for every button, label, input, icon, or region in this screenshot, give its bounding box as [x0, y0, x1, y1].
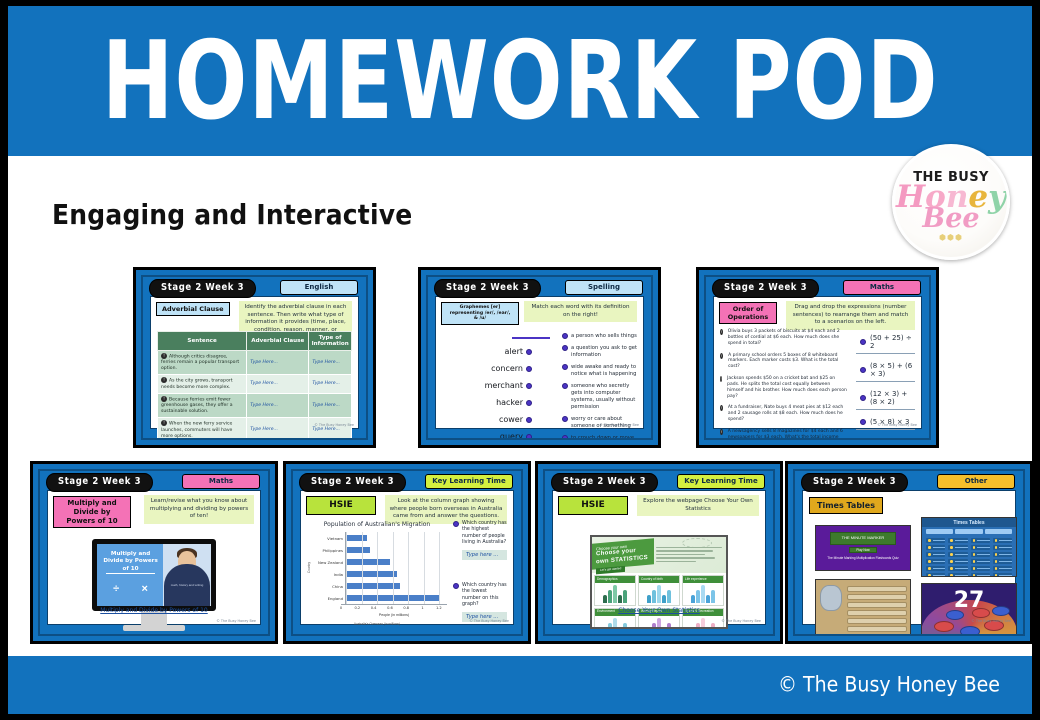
chart-category-label: New Zealand: [311, 556, 345, 568]
topic-tag: Graphemes [er] representing /er/, /ear/,…: [441, 302, 519, 325]
scenario-item: !A primary school orders 5 boxes of 8 wh…: [720, 353, 848, 371]
slide-body: Multiply and Divide by Powers of 10 Lear…: [47, 490, 261, 625]
chart-gridline: [439, 532, 440, 604]
card-hsie-column-graph[interactable]: Stage 2 Week 3 Key Learning Time HSIE Lo…: [283, 461, 531, 644]
chart-category-labels: VietnamPhilippinesNew ZealandIndiaChinaE…: [311, 532, 345, 604]
video-link[interactable]: Multiply and Divide by Powers of 10: [48, 607, 260, 614]
scenario-item: !Olivia buys 3 packets of biscuits at $4…: [720, 329, 848, 347]
web-tile-label: Demographics: [595, 576, 635, 583]
word-label: query: [500, 432, 523, 440]
connector-dot-icon[interactable]: [526, 417, 532, 423]
question-1: Which country has the highest number of …: [453, 521, 507, 560]
col-sentence: Sentence: [158, 332, 247, 351]
table-row: !Although critics disagree, ferries rema…: [158, 351, 352, 375]
subject-badge-other: Other: [937, 474, 1015, 489]
web-tile-figure-icon: [595, 583, 635, 605]
connector-dot-icon[interactable]: [562, 345, 568, 351]
cell-sentence: !Because ferries emit fewer greenhouse g…: [158, 393, 247, 417]
card-maths-order-of-operations[interactable]: Stage 2 Week 3 Maths Order of Operations…: [696, 267, 939, 448]
honeycomb-icon: ⬢⬢⬢: [939, 233, 963, 242]
word-column[interactable]: alertconcernmerchanthackercowerquery: [446, 343, 532, 440]
header-banner: HOMEWORK POD: [8, 6, 1032, 156]
cell-type-input[interactable]: Type Here...: [309, 351, 352, 375]
word-label: alert: [505, 347, 523, 356]
word-item[interactable]: cower: [446, 411, 532, 428]
video-title: Multiply and Divide by Powers of 10: [102, 551, 159, 573]
operator-icons: ÷ ×: [102, 583, 159, 595]
bullet-icon: !: [720, 376, 722, 382]
expression-text: (8 × 5) + (6 × 3): [870, 362, 913, 378]
divide-icon: ÷: [113, 583, 119, 595]
instruction-text: Explore the webpage Choose Your Own Stat…: [637, 495, 759, 516]
card-spelling[interactable]: Stage 2 Week 3 Spelling Graphemes [er] r…: [418, 267, 661, 448]
subject-badge-spelling: Spelling: [565, 280, 643, 295]
video-screen[interactable]: Multiply and Divide by Powers of 10 ÷ × …: [92, 539, 216, 611]
stone-icon: [820, 585, 842, 611]
hero-title: Choose your own STATISTICS: [596, 547, 650, 567]
game-thumb-quiz[interactable]: [815, 579, 911, 635]
credit-text: © The Busy Honey Bee: [971, 619, 1011, 623]
web-tile-label: Life experience: [683, 576, 723, 583]
web-tile-figure-icon: [683, 616, 723, 629]
chart-title: Population of Australian's Migration: [307, 521, 447, 528]
chart-tick-label: 1.2: [436, 606, 442, 610]
connector-dot-icon[interactable]: [562, 364, 568, 370]
cell-sentence: !When the new ferry service launches, co…: [158, 418, 247, 440]
slide-body: Graphemes [er] representing /er/, /ear/,…: [435, 296, 644, 429]
chart-gridline: [424, 532, 425, 604]
bullet-icon: !: [161, 377, 167, 383]
chart-gridline: [408, 532, 409, 604]
topic-tag: HSIE: [306, 496, 376, 515]
expression-item[interactable]: (50 + 25) ÷ 2: [856, 331, 915, 354]
divider: [106, 573, 155, 575]
expression-item[interactable]: (8 × 5) + (6 × 3): [856, 359, 915, 382]
bullet-icon: !: [161, 420, 167, 426]
subject-badge-maths: Maths: [843, 280, 921, 295]
definition-text: to crouch down or move back because you …: [571, 435, 637, 440]
scenario-text: Jackson spends $50 on a cricket bat and …: [727, 376, 848, 399]
slide-body: Times Tables THE MINUTE MARKER Play Now …: [802, 490, 1016, 625]
cell-clause-input[interactable]: Type Here...: [247, 351, 309, 375]
table-row: !Because ferries emit fewer greenhouse g…: [158, 393, 352, 417]
connector-dot-icon[interactable]: [562, 416, 568, 422]
connector-dot-icon[interactable]: [526, 366, 532, 372]
web-tile-figure-icon: [639, 616, 679, 629]
card-english[interactable]: Stage 2 Week 3 English Adverbial Clause …: [133, 267, 376, 448]
credit-text: © The Busy Honey Bee: [469, 619, 509, 623]
chart-tick-label: 1: [421, 606, 423, 610]
topic-tag: HSIE: [558, 496, 628, 515]
credit-text: © The Busy Honey Bee: [721, 619, 761, 623]
stage-label: Stage 2 Week 3: [712, 279, 819, 298]
webpage-link[interactable]: Choose Your Own Statistics: [553, 607, 765, 614]
chart-bar: [346, 547, 370, 553]
chart-tick-label: 0.4: [371, 606, 377, 610]
table-row: !As the city grows, transport needs beco…: [158, 375, 352, 393]
chart-gridline: [346, 532, 347, 604]
expression-item[interactable]: (12 × 3) + (8 × 2): [856, 387, 915, 410]
web-tile-figure-icon: [595, 616, 635, 629]
credit-text: © The Busy Honey Bee: [314, 423, 354, 427]
subject-badge-klt: Key Learning Time: [677, 474, 765, 489]
multiply-icon: ×: [142, 583, 148, 595]
game-thumb-times-tables[interactable]: Times Tables: [921, 517, 1017, 577]
slide-body: Order of Operations Drag and drop the ex…: [713, 296, 922, 429]
expression-text: (50 + 25) ÷ 2: [870, 334, 913, 350]
cell-clause-input[interactable]: Type Here...: [247, 393, 309, 417]
chart-gridline: [377, 532, 378, 604]
definition-item[interactable]: someone who secretly gets into computer …: [562, 383, 637, 411]
card-hsie-statistics-webpage[interactable]: Stage 2 Week 3 Key Learning Time HSIE Ex…: [535, 461, 783, 644]
topic-tag: Order of Operations: [719, 302, 777, 324]
chart-category-label: England: [311, 592, 345, 604]
connector-dot-icon[interactable]: [526, 400, 532, 406]
cell-clause-input[interactable]: Type Here...: [247, 375, 309, 393]
chart-gridline: [393, 532, 394, 604]
hero-banner: Choose your ownChoose your own STATISTIC…: [592, 538, 654, 569]
word-item[interactable]: query: [446, 428, 532, 440]
scenario-item: !At a fundraiser, Nate buys 4 meat pies …: [720, 405, 848, 423]
answer-input-1[interactable]: Type here ...: [462, 550, 507, 560]
logo-bee-text: Bee: [922, 207, 979, 231]
chart-tick-label: 0.2: [354, 606, 360, 610]
chart-plot-area: [345, 532, 447, 604]
presenter-image: math, history and writing: [163, 544, 211, 606]
col-type: Type of Information: [309, 332, 352, 351]
slide-body: HSIE Look at the column graph showing wh…: [300, 490, 514, 625]
definition-item[interactable]: a person who sells things: [562, 333, 637, 340]
cell-type-input[interactable]: Type Here...: [309, 375, 352, 393]
migration-bar-chart: Population of Australian's Migration Cou…: [307, 521, 447, 616]
chart-category-label: China: [311, 580, 345, 592]
web-tile-label: Country of birth: [639, 576, 679, 583]
stage-label: Stage 2 Week 3: [149, 279, 256, 298]
credit-text: © The Busy Honey Bee: [877, 423, 917, 427]
drag-handle-icon[interactable]: [860, 339, 866, 345]
brand-logo: THE BUSY Honey Bee ⬢⬢⬢: [892, 144, 1010, 260]
credit-text: © The Busy Honey Bee: [216, 619, 256, 623]
scenario-list: !Olivia buys 3 packets of biscuits at $4…: [720, 329, 848, 440]
subtitle: Engaging and Interactive: [52, 198, 412, 230]
chart-xlabel: People (in millions): [341, 613, 447, 617]
bullet-icon: [453, 521, 459, 527]
webpage-thumbnail[interactable]: Choose your ownChoose your own STATISTIC…: [590, 535, 728, 629]
scenario-text: A newsagency sells 8 magazines for $4 ea…: [728, 429, 848, 440]
bullet-icon: !: [720, 429, 723, 435]
slide-body: HSIE Explore the webpage Choose Your Own…: [552, 490, 766, 625]
cell-sentence: !Although critics disagree, ferries rema…: [158, 351, 247, 375]
subject-badge-maths: Maths: [182, 474, 260, 489]
bullet-icon: !: [161, 353, 167, 359]
instruction-text: Match each word with its definition on t…: [524, 301, 637, 322]
web-tile-figure-icon: [683, 583, 723, 605]
bullet-icon: [453, 583, 459, 589]
game-thumb-minute-marker[interactable]: THE MINUTE MARKER Play Now The Minute Ma…: [815, 525, 911, 571]
subject-badge-klt: Key Learning Time: [425, 474, 513, 489]
instruction-text: Look at the column graph showing where p…: [385, 495, 507, 524]
game-thumb-number-game[interactable]: 27: [921, 583, 1017, 636]
connector-dot-icon[interactable]: [526, 349, 532, 355]
chart-category-label: Philippines: [311, 544, 345, 556]
connector-dot-icon[interactable]: [526, 383, 532, 389]
definition-text: wide awake and ready to notice what is h…: [571, 364, 637, 378]
definition-item[interactable]: to crouch down or move back because you …: [562, 435, 637, 440]
video-monitor[interactable]: Multiply and Divide by Powers of 10 ÷ × …: [92, 539, 216, 631]
table-header-row: Sentence Adverbial Clause Type of Inform…: [158, 332, 352, 351]
chart-gridline: [362, 532, 363, 604]
stage-label: Stage 2 Week 3: [551, 473, 658, 492]
topic-tag: Adverbial Clause: [156, 302, 230, 316]
chart-bar: [346, 559, 390, 565]
word-item[interactable]: merchant: [446, 377, 532, 394]
connector-dot-icon[interactable]: [562, 435, 568, 440]
web-tile[interactable]: Country of birth: [638, 575, 680, 606]
drag-handle-icon[interactable]: [860, 367, 866, 373]
word-label: merchant: [485, 381, 523, 390]
page-title: HOMEWORK POD: [102, 27, 939, 135]
chart-tick-label: 0: [340, 606, 342, 610]
scenario-item: !Jackson spends $50 on a cricket bat and…: [720, 376, 848, 399]
scenario-text: At a fundraiser, Nate buys 4 meat pies a…: [728, 405, 848, 423]
cell-sentence: !As the city grows, transport needs beco…: [158, 375, 247, 393]
cell-type-input[interactable]: Type Here...: [309, 418, 352, 440]
game-title: THE MINUTE MARKER: [830, 532, 896, 545]
slide-body: Adverbial Clause Identify the adverbial …: [150, 296, 359, 429]
web-tile[interactable]: Demographics: [594, 575, 636, 606]
subject-badge-english: English: [280, 280, 358, 295]
question-text: Which country has the lowest number on t…: [462, 583, 507, 609]
expression-item[interactable]: (4 × 3) + (6 × 2): [856, 435, 915, 440]
footer-banner: © The Busy Honey Bee: [8, 656, 1032, 714]
tile-grid[interactable]: DemographicsCountry of birthLife experie…: [592, 573, 726, 629]
bullet-icon: !: [720, 353, 723, 359]
connector-dot-icon[interactable]: [562, 383, 568, 389]
expression-text: (4 × 3) + (6 × 2): [870, 438, 913, 440]
cell-clause-input[interactable]: Type Here...: [247, 418, 309, 440]
col-clause: Adverbial Clause: [247, 332, 309, 351]
card-other-times-tables[interactable]: Stage 2 Week 3 Other Times Tables THE MI…: [785, 461, 1033, 644]
stage-label: Stage 2 Week 3: [801, 473, 908, 492]
chart-bar: [346, 535, 367, 541]
chart-bar: [346, 571, 397, 577]
shirt-text: math, history and writing: [167, 584, 207, 588]
bullet-icon: !: [720, 329, 723, 335]
chart-bar: [346, 583, 400, 589]
word-label: concern: [491, 364, 523, 373]
question-text: Which country has the highest number of …: [462, 521, 507, 547]
monitor-base: [123, 625, 185, 631]
word-item[interactable]: hacker: [446, 394, 532, 411]
chart-x-axis: 00.20.40.60.811.2: [341, 604, 447, 613]
word-item[interactable]: alert: [446, 343, 532, 360]
credit-text: © The Busy Honey Bee: [599, 423, 639, 427]
expression-text: (12 × 3) + (8 × 2): [870, 390, 913, 406]
chart-ylabel: Country: [307, 562, 311, 573]
cell-type-input[interactable]: Type Here...: [309, 393, 352, 417]
chart-category-label: India: [311, 568, 345, 580]
connector-dot-icon[interactable]: [562, 333, 568, 339]
poster-page: HOMEWORK POD THE BUSY Honey Bee ⬢⬢⬢ Enga…: [0, 0, 1040, 720]
chart-category-label: Vietnam: [311, 532, 345, 544]
word-item[interactable]: concern: [446, 360, 532, 377]
hero-text-lines: [656, 547, 722, 564]
game-title: Times Tables: [953, 520, 984, 526]
web-tile-figure-icon: [639, 583, 679, 605]
definition-item[interactable]: a question you ask to get information: [562, 345, 637, 359]
scenario-text: A primary school orders 5 boxes of 8 whi…: [728, 353, 848, 371]
scenario-text: Olivia buys 3 packets of biscuits at $4 …: [728, 329, 848, 347]
hero-button[interactable]: Let's get started: [596, 566, 625, 574]
game-caption: The Minute Marking Multiplication Flashc…: [816, 556, 910, 560]
instruction-text: Learn/revise what you know about multipl…: [144, 495, 254, 524]
chart-tick-label: 0.6: [387, 606, 393, 610]
definition-item[interactable]: wide awake and ready to notice what is h…: [562, 364, 637, 378]
stage-label: Stage 2 Week 3: [299, 473, 406, 492]
word-label: hacker: [496, 398, 523, 407]
bullet-icon: !: [161, 396, 167, 402]
play-button[interactable]: Play Now: [849, 547, 877, 553]
chart-source: Australia's Overseas (in millions): [307, 622, 447, 626]
scenario-item: !A newsagency sells 8 magazines for $4 e…: [720, 429, 848, 440]
question-2: Which country has the lowest number on t…: [453, 583, 507, 622]
match-connector-line: [512, 337, 550, 339]
definition-text: a person who sells things: [571, 333, 637, 340]
topic-tag: Multiply and Divide by Powers of 10: [53, 496, 131, 528]
stage-label: Stage 2 Week 3: [434, 279, 541, 298]
instruction-text: Drag and drop the expressions (number se…: [786, 301, 915, 330]
table-row: !When the new ferry service launches, co…: [158, 418, 352, 440]
topic-tag: Times Tables: [809, 497, 883, 514]
bullet-icon: !: [720, 405, 723, 411]
copyright-text: © The Busy Honey Bee: [778, 673, 1000, 697]
stage-label: Stage 2 Week 3: [46, 473, 153, 492]
definition-text: someone who secretly gets into computer …: [571, 383, 637, 411]
drag-handle-icon[interactable]: [860, 395, 866, 401]
drag-handle-icon[interactable]: [860, 419, 866, 425]
definition-text: a question you ask to get information: [571, 345, 637, 359]
web-tile[interactable]: Life experience: [682, 575, 724, 606]
connector-dot-icon[interactable]: [526, 434, 532, 440]
word-label: cower: [499, 415, 523, 424]
card-maths-powers-of-ten[interactable]: Stage 2 Week 3 Maths Multiply and Divide…: [30, 461, 278, 644]
chart-tick-label: 0.8: [403, 606, 409, 610]
